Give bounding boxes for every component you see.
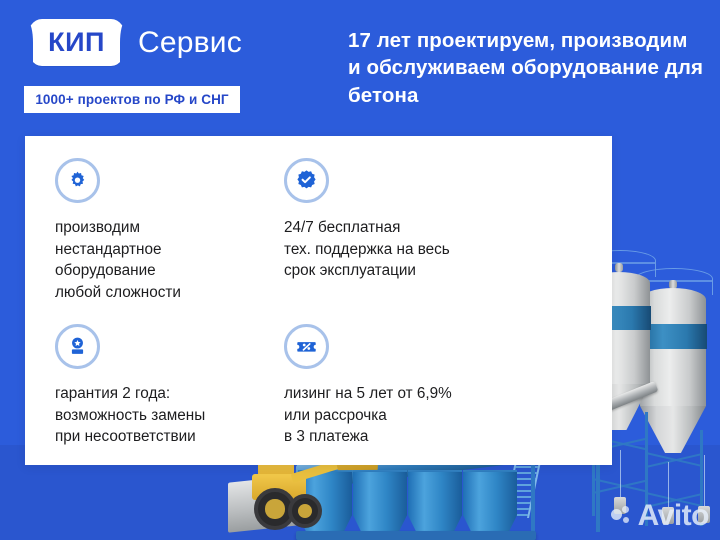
logo-kip-text: КИП bbox=[48, 27, 105, 58]
feature-text: лизинг на 5 лет от 6,9% или рассрочка в … bbox=[284, 383, 591, 448]
tower-leg bbox=[596, 460, 600, 532]
projects-badge-label: 1000+ проектов по РФ и СНГ bbox=[35, 92, 228, 107]
avito-wordmark: Avito bbox=[638, 501, 709, 531]
page-title: 17 лет проектируем, производим и обслужи… bbox=[348, 27, 704, 109]
feature-warranty: гарантия 2 года: возможность замены при … bbox=[55, 324, 284, 448]
hopper-frame bbox=[296, 531, 536, 540]
loader-wheel bbox=[288, 494, 322, 528]
hopper-bin bbox=[463, 470, 517, 540]
avito-dots-icon bbox=[611, 506, 633, 526]
verified-badge-icon bbox=[284, 158, 329, 203]
award-medal-icon bbox=[55, 324, 100, 369]
features-grid: производим нестандартное оборудование лю… bbox=[55, 158, 591, 448]
discount-percent-icon bbox=[284, 324, 329, 369]
logo-shield-mark: КИП bbox=[26, 19, 127, 66]
feature-text: гарантия 2 года: возможность замены при … bbox=[55, 383, 284, 448]
avito-watermark: Avito bbox=[611, 501, 709, 531]
feature-text: 24/7 бесплатная тех. поддержка на весь с… bbox=[284, 217, 591, 282]
logo-servis-text: Сервис bbox=[138, 26, 242, 60]
gear-icon bbox=[55, 158, 100, 203]
tower-leg bbox=[531, 460, 535, 532]
silo-cap bbox=[615, 263, 622, 272]
feature-manufacturing: производим нестандартное оборудование лю… bbox=[55, 158, 284, 324]
poster-header: КИП Сервис 1000+ проектов по РФ и СНГ 17… bbox=[0, 0, 720, 135]
feature-leasing: лизинг на 5 лет от 6,9% или рассрочка в … bbox=[284, 324, 591, 448]
silo-cable bbox=[620, 450, 621, 498]
projects-badge: 1000+ проектов по РФ и СНГ bbox=[24, 86, 240, 113]
brand-logo[interactable]: КИП Сервис bbox=[26, 19, 242, 66]
feature-support: 24/7 бесплатная тех. поддержка на весь с… bbox=[284, 158, 591, 324]
features-card: производим нестандартное оборудование лю… bbox=[25, 136, 612, 465]
poster-canvas: КИП Сервис 1000+ проектов по РФ и СНГ 17… bbox=[0, 0, 720, 540]
feature-text: производим нестандартное оборудование лю… bbox=[55, 217, 284, 304]
hopper-bin bbox=[408, 470, 462, 540]
